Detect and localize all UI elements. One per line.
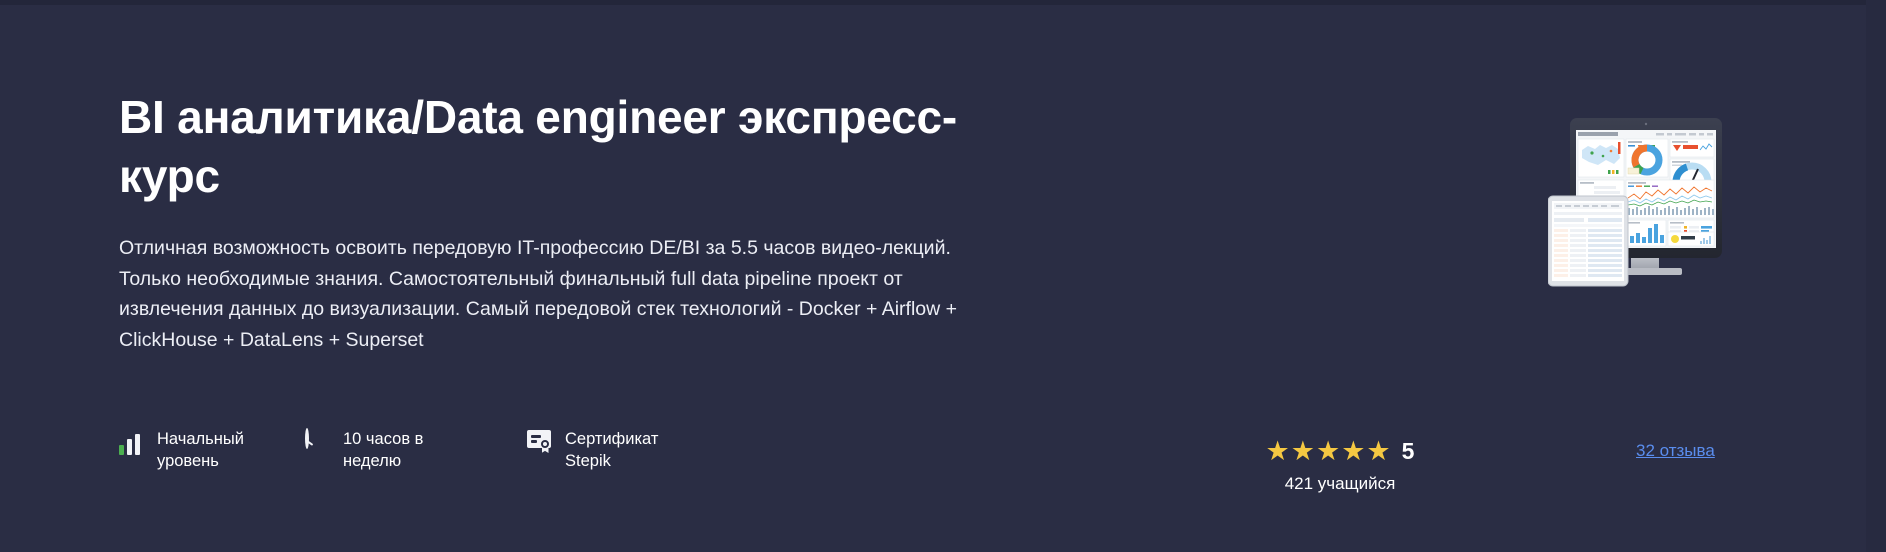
course-hero-page: BI аналитика/Data engineer экспресс-курс…	[0, 0, 1886, 552]
course-description: Отличная возможность освоить передовую I…	[119, 233, 979, 355]
bar-level-icon	[119, 430, 145, 456]
monitor-dashboard-illustration	[1548, 100, 1754, 290]
meta-label-certificate: Сертификат Stepik	[565, 428, 658, 472]
top-edge-strip	[0, 0, 1886, 5]
right-edge-strip	[1866, 0, 1886, 552]
meta-label-level: Начальный уровень	[157, 428, 244, 472]
reviews-link[interactable]: 32 отзыва	[1636, 440, 1715, 462]
rating-block: ★ ★ ★ ★ ★ 5 421 учащийся	[1250, 437, 1430, 495]
page-title: BI аналитика/Data engineer экспресс-курс	[119, 88, 999, 206]
certificate-icon	[527, 430, 553, 456]
star-icon: ★	[1316, 437, 1340, 465]
star-icon: ★	[1266, 437, 1290, 465]
clock-icon	[305, 430, 331, 456]
star-rating: ★ ★ ★ ★ ★ 5	[1250, 437, 1430, 465]
learners-count: 421 учащийся	[1250, 473, 1430, 495]
star-icon: ★	[1291, 437, 1315, 465]
rating-value: 5	[1402, 437, 1415, 465]
meta-item-level: Начальный уровень	[119, 428, 305, 472]
course-meta-row: Начальный уровень 10 часов в неделю Серт…	[119, 428, 787, 472]
star-icon: ★	[1341, 437, 1365, 465]
meta-label-workload: 10 часов в неделю	[343, 428, 423, 472]
meta-item-workload: 10 часов в неделю	[305, 428, 527, 472]
star-icon: ★	[1366, 437, 1390, 465]
hero-text-block: BI аналитика/Data engineer экспресс-курс…	[119, 88, 1119, 355]
hero-dashboard-image	[1548, 100, 1754, 290]
meta-item-certificate: Сертификат Stepik	[527, 428, 787, 472]
